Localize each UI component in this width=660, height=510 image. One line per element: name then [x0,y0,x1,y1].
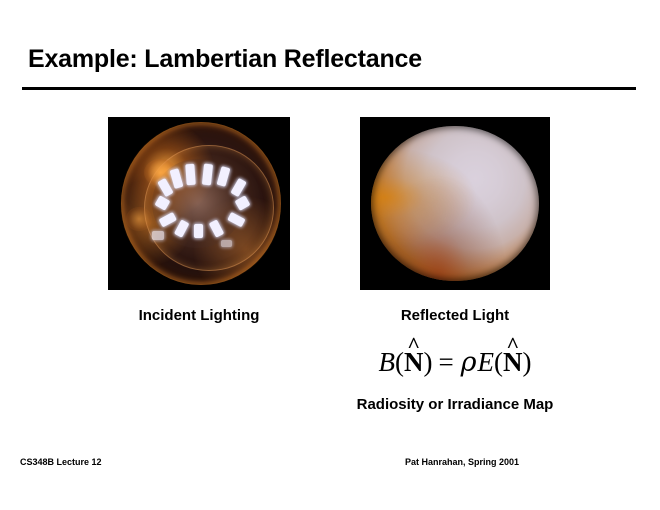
hat-accent-icon: ^ [407,334,420,356]
incident-lighting-caption: Incident Lighting [108,307,290,324]
diffuse-sphere-terminator [371,126,538,282]
light-probe-warm-blob [126,207,151,231]
hat-accent-icon: ^ [506,334,519,356]
equation-open-paren: ( [494,347,503,377]
equation-lhs-normal-vector: ^N [404,345,424,379]
equation-equals: = [432,347,459,377]
equation-rhs-symbol: E [478,347,495,377]
light-probe-specular [202,163,213,185]
footer-author-label: Pat Hanrahan, Spring 2001 [405,457,519,467]
page-title: Example: Lambertian Reflectance [28,44,422,74]
equation-rhs-normal-vector: ^N [503,345,523,379]
equation-close-paren: ) [523,347,532,377]
title-divider [22,87,636,90]
incident-lighting-image [108,117,290,290]
reflected-light-caption: Reflected Light [360,307,550,324]
footer-course-label: CS348B Lecture 12 [20,457,102,467]
equation-open-paren: ( [395,347,404,377]
reflected-light-image [360,117,550,290]
light-probe-specular [152,231,165,240]
light-probe-specular [221,240,232,247]
equation-lhs-symbol: B [378,347,395,377]
slide-canvas: Example: Lambertian Reflectance Incident… [0,0,660,510]
equation-subcaption: Radiosity or Irradiance Map [330,396,580,413]
light-probe-specular [194,224,203,238]
reflectance-equation: B(^N)=ρE(^N) [330,345,580,380]
light-probe-specular [186,163,197,184]
equation-rho-symbol: ρ [460,347,478,378]
